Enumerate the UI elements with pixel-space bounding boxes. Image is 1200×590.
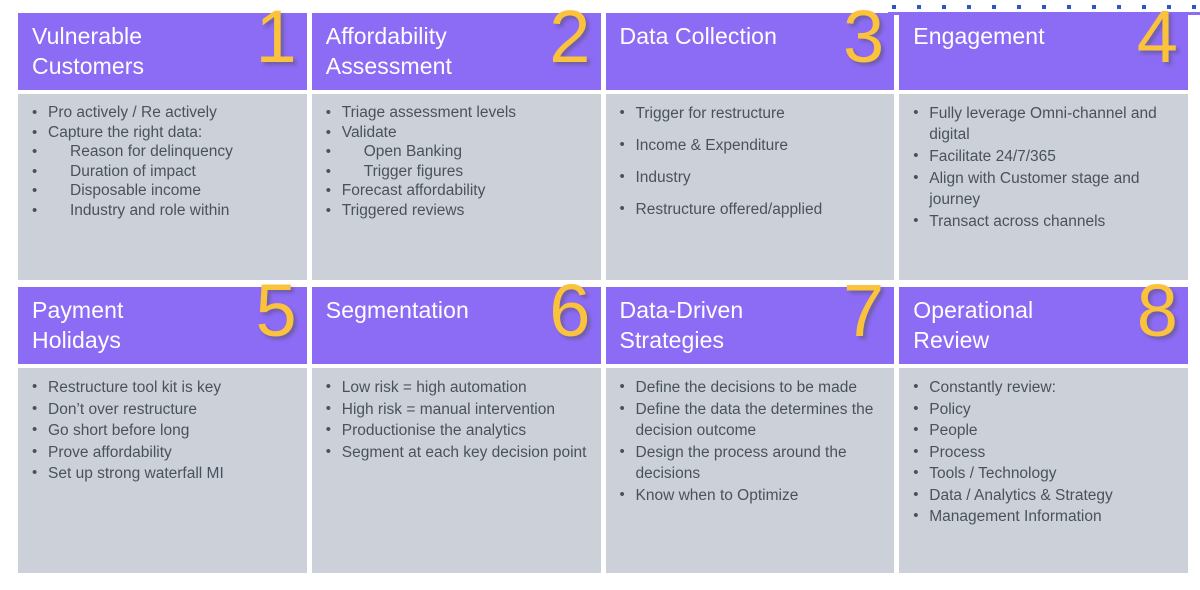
bullet-item: Reason for delinquency bbox=[26, 142, 299, 162]
bullet-item: Define the data the determines the decis… bbox=[614, 399, 887, 442]
bullet-list: Constantly review:PolicyPeopleProcessToo… bbox=[907, 377, 1180, 528]
process-card-3[interactable]: Data Collection3Trigger for restructureI… bbox=[606, 13, 895, 280]
bullet-item: Trigger figures bbox=[320, 162, 593, 182]
card-number-badge: 5 bbox=[255, 274, 296, 348]
card-number-badge: 4 bbox=[1137, 0, 1178, 74]
card-body: Trigger for restructureIncome & Expendit… bbox=[606, 94, 895, 280]
bullet-item: High risk = manual intervention bbox=[320, 399, 593, 421]
card-title: Segmentation bbox=[326, 295, 531, 325]
bullet-item: Facilitate 24/7/365 bbox=[907, 146, 1180, 168]
bullet-list: Restructure tool kit is keyDon’t over re… bbox=[26, 377, 299, 485]
card-body: Pro actively / Re activelyCapture the ri… bbox=[18, 94, 307, 280]
decorative-dot-row bbox=[888, 4, 1200, 9]
bullet-item: Restructure offered/applied bbox=[614, 199, 887, 231]
card-row-top: Vulnerable Customers1Pro actively / Re a… bbox=[18, 13, 1188, 280]
bullet-item: Segment at each key decision point bbox=[320, 442, 593, 464]
process-card-4[interactable]: Engagement4Fully leverage Omni-channel a… bbox=[899, 13, 1188, 280]
card-number-badge: 2 bbox=[549, 0, 590, 74]
bullet-item: Disposable income bbox=[26, 181, 299, 201]
process-card-7[interactable]: Data-Driven Strategies7Define the decisi… bbox=[606, 287, 895, 573]
process-card-1[interactable]: Vulnerable Customers1Pro actively / Re a… bbox=[18, 13, 307, 280]
bullet-item: Pro actively / Re actively bbox=[26, 103, 299, 123]
card-number-badge: 3 bbox=[843, 0, 884, 74]
bullet-item: Policy bbox=[907, 399, 1180, 421]
bullet-list: Fully leverage Omni-channel and digitalF… bbox=[907, 103, 1180, 233]
bullet-item: Forecast affordability bbox=[320, 181, 593, 201]
decorative-dot bbox=[942, 5, 946, 9]
bullet-item: Fully leverage Omni-channel and digital bbox=[907, 103, 1180, 146]
bullet-list: Trigger for restructureIncome & Expendit… bbox=[614, 103, 887, 231]
decorative-dot bbox=[1167, 5, 1171, 9]
card-grid: Vulnerable Customers1Pro actively / Re a… bbox=[18, 13, 1188, 573]
card-title: Operational Review bbox=[913, 295, 1118, 355]
process-card-8[interactable]: Operational Review8Constantly review:Pol… bbox=[899, 287, 1188, 573]
bullet-item: Industry bbox=[614, 167, 887, 199]
card-number-badge: 7 bbox=[843, 274, 884, 348]
bullet-item: Know when to Optimize bbox=[614, 485, 887, 507]
decorative-dot bbox=[1142, 5, 1146, 9]
card-number-badge: 1 bbox=[255, 0, 296, 74]
bullet-item: Data / Analytics & Strategy bbox=[907, 485, 1180, 507]
decorative-dot bbox=[892, 5, 896, 9]
decorative-dot bbox=[1017, 5, 1021, 9]
card-body: Low risk = high automationHigh risk = ma… bbox=[312, 368, 601, 573]
bullet-item: Management Information bbox=[907, 506, 1180, 528]
bullet-item: Go short before long bbox=[26, 420, 299, 442]
card-header: Segmentation6 bbox=[312, 287, 601, 364]
bullet-item: Prove affordability bbox=[26, 442, 299, 464]
decorative-dot bbox=[1192, 5, 1196, 9]
bullet-item: Process bbox=[907, 442, 1180, 464]
card-title: Affordability Assessment bbox=[326, 21, 531, 81]
card-header: Operational Review8 bbox=[899, 287, 1188, 364]
decorative-dot bbox=[1042, 5, 1046, 9]
card-title: Data Collection bbox=[620, 21, 825, 51]
card-number-badge: 6 bbox=[549, 274, 590, 348]
bullet-item: Productionise the analytics bbox=[320, 420, 593, 442]
card-header: Data Collection3 bbox=[606, 13, 895, 90]
decorative-dot bbox=[1067, 5, 1071, 9]
bullet-item: Trigger for restructure bbox=[614, 103, 887, 135]
bullet-item: Restructure tool kit is key bbox=[26, 377, 299, 399]
card-number-badge: 8 bbox=[1137, 274, 1178, 348]
process-card-5[interactable]: Payment Holidays5Restructure tool kit is… bbox=[18, 287, 307, 573]
bullet-item: Duration of impact bbox=[26, 162, 299, 182]
decorative-dot bbox=[1117, 5, 1121, 9]
bullet-item: Industry and role within bbox=[26, 201, 299, 221]
bullet-item: Validate bbox=[320, 123, 593, 143]
bullet-list: Define the decisions to be madeDefine th… bbox=[614, 377, 887, 506]
decorative-dot bbox=[1092, 5, 1096, 9]
bullet-item: Constantly review: bbox=[907, 377, 1180, 399]
card-body: Triage assessment levelsValidateOpen Ban… bbox=[312, 94, 601, 280]
bullet-item: Transact across channels bbox=[907, 211, 1180, 233]
bullet-item: Tools / Technology bbox=[907, 463, 1180, 485]
card-title: Engagement bbox=[913, 21, 1118, 51]
bullet-item: Define the decisions to be made bbox=[614, 377, 887, 399]
card-title: Data-Driven Strategies bbox=[620, 295, 825, 355]
card-header: Payment Holidays5 bbox=[18, 287, 307, 364]
card-header: Vulnerable Customers1 bbox=[18, 13, 307, 90]
bullet-item: People bbox=[907, 420, 1180, 442]
card-body: Fully leverage Omni-channel and digitalF… bbox=[899, 94, 1188, 280]
bullet-item: Capture the right data: bbox=[26, 123, 299, 143]
card-header: Affordability Assessment2 bbox=[312, 13, 601, 90]
bullet-item: Triage assessment levels bbox=[320, 103, 593, 123]
bullet-item: Set up strong waterfall MI bbox=[26, 463, 299, 485]
bullet-item: Income & Expenditure bbox=[614, 135, 887, 167]
card-body: Restructure tool kit is keyDon’t over re… bbox=[18, 368, 307, 573]
slide-canvas: Vulnerable Customers1Pro actively / Re a… bbox=[0, 0, 1200, 590]
card-header: Engagement4 bbox=[899, 13, 1188, 90]
card-row-bottom: Payment Holidays5Restructure tool kit is… bbox=[18, 287, 1188, 573]
bullet-item: Design the process around the decisions bbox=[614, 442, 887, 485]
bullet-list: Triage assessment levelsValidateOpen Ban… bbox=[320, 103, 593, 220]
bullet-list: Low risk = high automationHigh risk = ma… bbox=[320, 377, 593, 463]
bullet-item: Low risk = high automation bbox=[320, 377, 593, 399]
card-title: Vulnerable Customers bbox=[32, 21, 237, 81]
process-card-6[interactable]: Segmentation6Low risk = high automationH… bbox=[312, 287, 601, 573]
bullet-item: Open Banking bbox=[320, 142, 593, 162]
card-header: Data-Driven Strategies7 bbox=[606, 287, 895, 364]
decorative-dot bbox=[917, 5, 921, 9]
card-title: Payment Holidays bbox=[32, 295, 237, 355]
bullet-item: Align with Customer stage and journey bbox=[907, 168, 1180, 211]
decorative-dot bbox=[992, 5, 996, 9]
decorative-dot bbox=[967, 5, 971, 9]
process-card-2[interactable]: Affordability Assessment2Triage assessme… bbox=[312, 13, 601, 280]
bullet-item: Don’t over restructure bbox=[26, 399, 299, 421]
card-body: Constantly review:PolicyPeopleProcessToo… bbox=[899, 368, 1188, 573]
bullet-item: Triggered reviews bbox=[320, 201, 593, 221]
bullet-list: Pro actively / Re activelyCapture the ri… bbox=[26, 103, 299, 220]
card-body: Define the decisions to be madeDefine th… bbox=[606, 368, 895, 573]
